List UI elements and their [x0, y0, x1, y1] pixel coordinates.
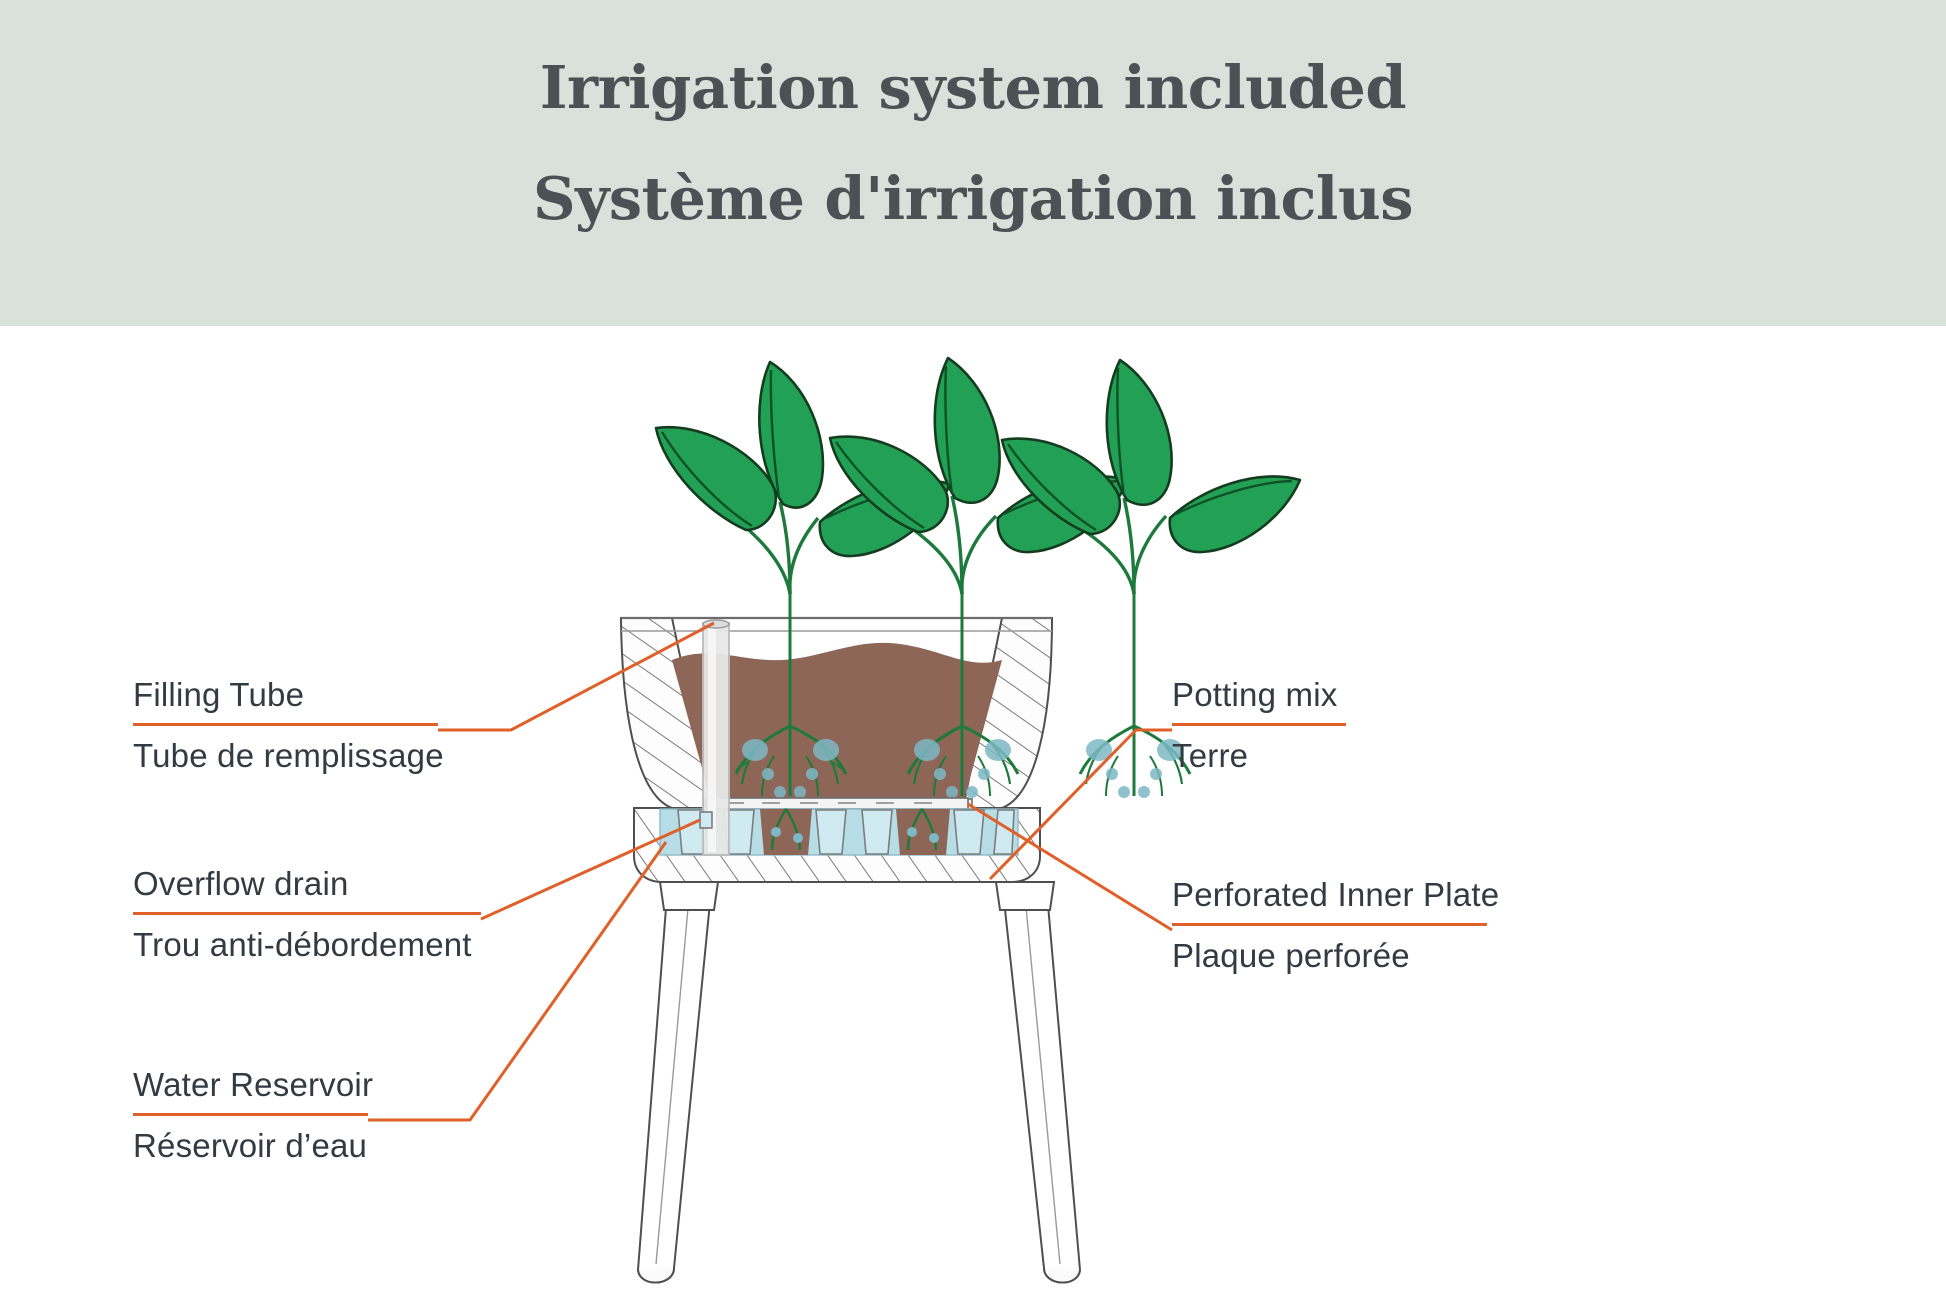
- leg-right-joint: [996, 882, 1054, 910]
- perforated-inner-plate: [706, 798, 968, 809]
- planter-leg-left: [638, 882, 712, 1283]
- callout-perforated-inner-plate: Perforated Inner Plate Plaque perforée: [1172, 878, 1487, 972]
- leg-left-joint: [660, 882, 718, 910]
- plant-group-3: [1002, 360, 1300, 594]
- callout-potting-mix-label-en: Potting mix: [1172, 678, 1346, 723]
- overflow-drain-part: [700, 812, 712, 828]
- page-title-fr: Système d'irrigation inclus: [0, 169, 1946, 228]
- callout-filling-tube: Filling Tube Tube de remplissage: [133, 678, 438, 772]
- callout-inner-plate-label-en: Perforated Inner Plate: [1172, 878, 1487, 923]
- callout-water-reservoir-label-fr: Réservoir d’eau: [133, 1116, 368, 1162]
- planter-leg-right: [1002, 882, 1080, 1283]
- callout-potting-mix: Potting mix Terre: [1172, 678, 1346, 772]
- callout-inner-plate-label-fr: Plaque perforée: [1172, 926, 1487, 972]
- page-title-en: Irrigation system included: [0, 58, 1946, 117]
- callout-filling-tube-label-en: Filling Tube: [133, 678, 438, 723]
- callout-filling-tube-label-fr: Tube de remplissage: [133, 726, 438, 772]
- callout-overflow-drain: Overflow drain Trou anti-débordement: [133, 867, 481, 961]
- callout-water-reservoir: Water Reservoir Réservoir d’eau: [133, 1068, 368, 1162]
- callout-overflow-drain-label-fr: Trou anti-débordement: [133, 915, 481, 961]
- callout-overflow-drain-label-en: Overflow drain: [133, 867, 481, 912]
- diagram-stage: Filling Tube Tube de remplissage Overflo…: [0, 326, 1946, 1297]
- callout-water-reservoir-label-en: Water Reservoir: [133, 1068, 368, 1113]
- header-band: Irrigation system included Système d'irr…: [0, 0, 1946, 326]
- callout-potting-mix-label-fr: Terre: [1172, 726, 1346, 772]
- header-inner: Irrigation system included Système d'irr…: [0, 0, 1946, 228]
